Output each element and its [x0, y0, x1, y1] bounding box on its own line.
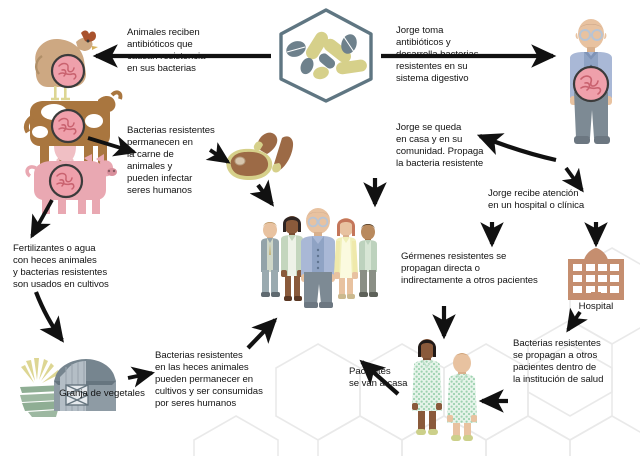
- person-right-small: [359, 224, 378, 297]
- pills-hexagon-node: [272, 6, 380, 104]
- label-bacteria-in-feces-crops: Bacterias resistentes en las heces anima…: [155, 350, 279, 410]
- person-center-jorge: [301, 208, 335, 308]
- patient-woman: [412, 339, 442, 435]
- label-bacteria-remain-in-meat: Bacterias resistentes permanecen en la c…: [127, 125, 239, 198]
- community-people-node: [254, 200, 382, 312]
- arrow-jorge-to-care: [566, 168, 582, 190]
- label-bacteria-spread-facility: Bacterias resistentes se propagan a otro…: [513, 338, 639, 386]
- label-germs-spread-to-patients: Gérmenes resistentes se propagan directa…: [401, 251, 553, 287]
- pills-hexagon-icon: [272, 6, 380, 104]
- person-woman-green: [281, 216, 303, 301]
- arrow-fertilizer-to-farm: [36, 292, 62, 340]
- patients-icon: [400, 335, 490, 443]
- person-woman-yellow: [334, 218, 358, 299]
- person-left-small: [261, 222, 280, 297]
- vegetable-farm-node: [16, 345, 136, 417]
- sun-rays-icon: [21, 358, 60, 383]
- cow-icon: [26, 92, 120, 172]
- vegetable-farm-caption: Granja de vegetales: [46, 388, 158, 399]
- label-animals-receive-antibiotics: Animales reciben antibióticos que causan…: [127, 27, 239, 75]
- hospital-caption: Hospital: [556, 301, 636, 312]
- label-jorge-takes-antibiotics: Jorge toma antibióticos y desarrolla bac…: [396, 25, 516, 85]
- hospital-icon: [564, 248, 628, 300]
- patient-man: [447, 353, 477, 441]
- chicken-icon: [35, 30, 98, 99]
- jorge-node: [556, 18, 626, 150]
- arrow-crops-to-people: [248, 320, 275, 348]
- barn-icon: [54, 359, 116, 411]
- patients-node: [400, 335, 490, 443]
- label-patients-go-home: Pacientes se van a casa: [349, 366, 409, 390]
- label-fertilizer-or-water: Fertilizantes o agua con heces animales …: [13, 243, 137, 291]
- community-people-icon: [254, 200, 382, 312]
- farm-animals-icon: [12, 16, 124, 206]
- hospital-node: [564, 248, 628, 300]
- infographic-canvas: Granja de vegetales Hospital: [0, 0, 640, 456]
- label-jorge-receives-care: Jorge recibe atención en un hospital o c…: [488, 188, 640, 212]
- vegetable-farm-icon: [16, 345, 136, 417]
- farm-animals-node: [12, 16, 124, 206]
- arrow-hospital-to-facility: [568, 312, 580, 330]
- jorge-icon: [556, 18, 626, 150]
- label-jorge-stays-home: Jorge se queda en casa y en su comunidad…: [396, 122, 516, 170]
